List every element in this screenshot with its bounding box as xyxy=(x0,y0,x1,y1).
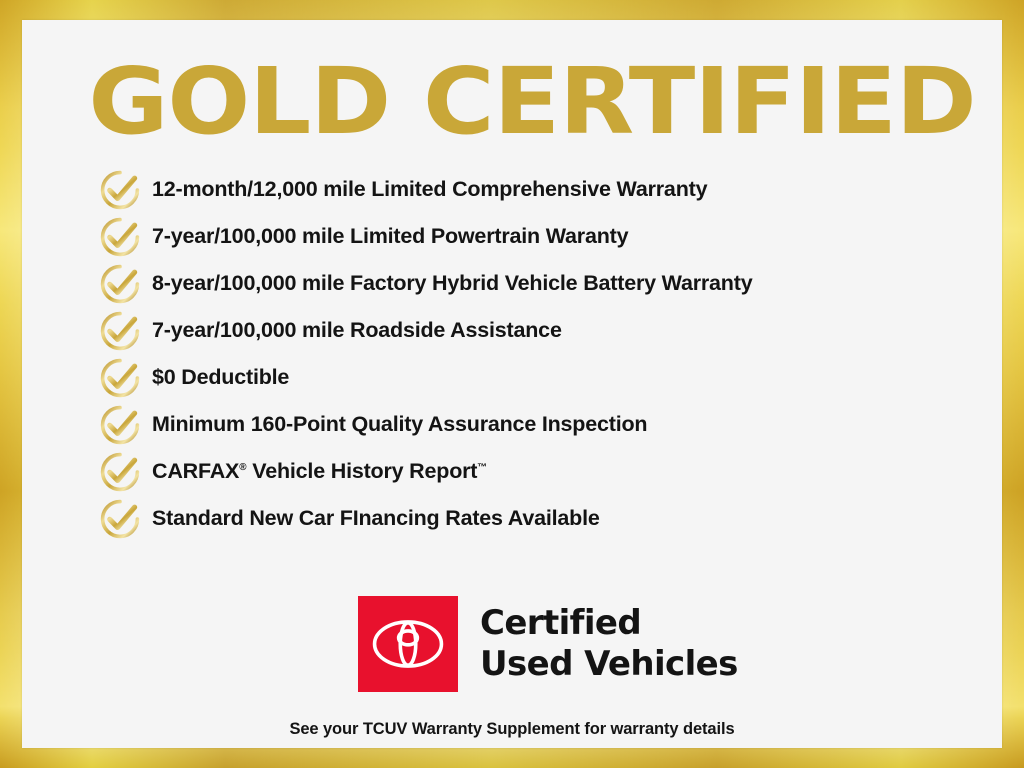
gold-check-circle-icon xyxy=(98,262,142,306)
gold-certified-certificate: GOLD CERTIFIED xyxy=(0,0,1024,768)
benefit-label: 12-month/12,000 mile Limited Comprehensi… xyxy=(152,177,707,202)
benefit-label: $0 Deductible xyxy=(152,365,289,390)
list-item: CARFAX® Vehicle History Report™ xyxy=(98,448,988,495)
carfax-wordmark: CARFAX xyxy=(152,459,239,483)
list-item: 7-year/100,000 mile Roadside Assistance xyxy=(98,307,988,354)
benefit-label: 7-year/100,000 mile Limited Powertrain W… xyxy=(152,224,628,249)
gold-check-circle-icon xyxy=(98,168,142,212)
list-item: 7-year/100,000 mile Limited Powertrain W… xyxy=(98,213,988,260)
gold-check-circle-icon xyxy=(98,497,142,541)
page-title: GOLD CERTIFIED xyxy=(76,56,988,148)
list-item: 12-month/12,000 mile Limited Comprehensi… xyxy=(98,166,988,213)
gold-check-circle-icon xyxy=(98,403,142,447)
logo-wordmark: Certified Used Vehicles xyxy=(480,603,738,685)
gold-check-circle-icon xyxy=(98,356,142,400)
list-item: 8-year/100,000 mile Factory Hybrid Vehic… xyxy=(98,260,988,307)
logo-line-certified: Certified xyxy=(480,603,738,644)
trademark-mark: ™ xyxy=(477,462,487,473)
warranty-disclaimer: See your TCUV Warranty Supplement for wa… xyxy=(22,720,1002,739)
benefit-label: Minimum 160-Point Quality Assurance Insp… xyxy=(152,412,647,437)
carfax-report-label: Vehicle History Report xyxy=(246,459,477,483)
list-item: Minimum 160-Point Quality Assurance Insp… xyxy=(98,401,988,448)
list-item: $0 Deductible xyxy=(98,354,988,401)
logo-line-used-vehicles: Used Vehicles xyxy=(480,644,738,685)
benefit-label: Standard New Car FInancing Rates Availab… xyxy=(152,506,600,531)
gold-check-circle-icon xyxy=(98,309,142,353)
certificate-panel: GOLD CERTIFIED xyxy=(22,20,1002,748)
toyota-emblem-icon xyxy=(358,596,458,692)
gold-check-circle-icon xyxy=(98,450,142,494)
list-item: Standard New Car FInancing Rates Availab… xyxy=(98,495,988,542)
benefits-list: 12-month/12,000 mile Limited Comprehensi… xyxy=(98,166,988,542)
benefit-label: 7-year/100,000 mile Roadside Assistance xyxy=(152,318,562,343)
toyota-certified-used-vehicles-logo: Certified Used Vehicles xyxy=(358,596,738,692)
benefit-label: 8-year/100,000 mile Factory Hybrid Vehic… xyxy=(152,271,752,296)
gold-check-circle-icon xyxy=(98,215,142,259)
benefit-label-carfax: CARFAX® Vehicle History Report™ xyxy=(152,459,487,484)
